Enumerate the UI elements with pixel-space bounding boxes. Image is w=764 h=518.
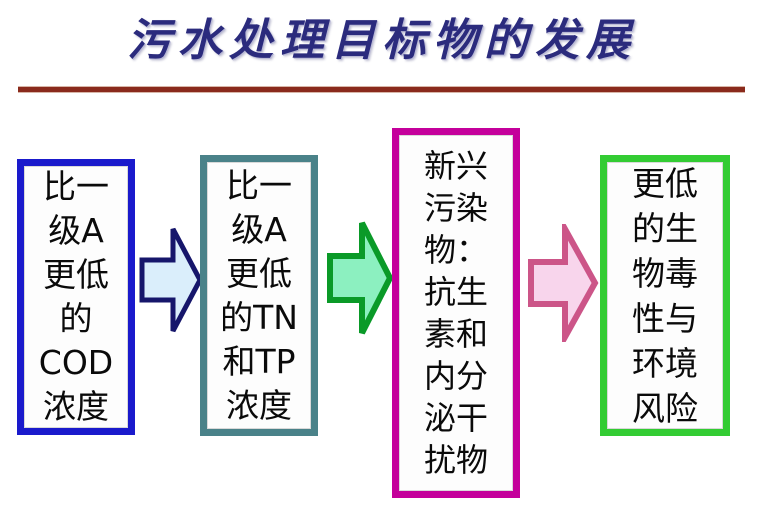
right-block-arrow-icon	[527, 224, 599, 342]
arrow-3-svg	[527, 224, 599, 342]
right-block-arrow-icon	[326, 218, 394, 338]
flow-box-stage-4[interactable]: 更低 的生 物毒 性与 环境 风险	[600, 155, 730, 436]
flow-box-stage-3[interactable]: 新兴 污染 物： 抗生 素和 内分 泌干 扰物	[392, 128, 520, 498]
arrow-shape	[531, 229, 595, 337]
flow-box-label: 更低 的生 物毒 性与 环境 风险	[632, 161, 698, 431]
arrow-1-svg	[139, 224, 203, 336]
arrow-shape	[330, 223, 390, 333]
arrow-shape	[142, 229, 200, 331]
flow-box-label: 比一 级A 更低 的TN 和TP 浓度	[220, 164, 298, 428]
page-title: 污水处理目标物的发展	[0, 8, 764, 74]
arrow-2-svg	[326, 218, 394, 338]
flow-box-inner: 新兴 污染 物： 抗生 素和 内分 泌干 扰物	[399, 135, 513, 491]
flow-box-inner: 比一 级A 更低 的TN 和TP 浓度	[207, 162, 311, 429]
flow-box-stage-1[interactable]: 比一 级A 更低 的 COD 浓度	[17, 159, 135, 435]
flow-box-inner: 更低 的生 物毒 性与 环境 风险	[607, 162, 723, 429]
flow-box-label: 新兴 污染 物： 抗生 素和 内分 泌干 扰物	[424, 145, 488, 481]
slide-canvas: 污水处理目标物的发展 比一 级A 更低 的 COD 浓度 比一 级A 更低 的T…	[0, 0, 764, 518]
right-block-arrow-icon	[139, 224, 203, 336]
title-divider-rule	[18, 86, 745, 93]
flow-box-label: 比一 级A 更低 的 COD 浓度	[39, 165, 113, 429]
flow-box-inner: 比一 级A 更低 的 COD 浓度	[24, 166, 128, 428]
flow-box-stage-2[interactable]: 比一 级A 更低 的TN 和TP 浓度	[200, 155, 318, 436]
